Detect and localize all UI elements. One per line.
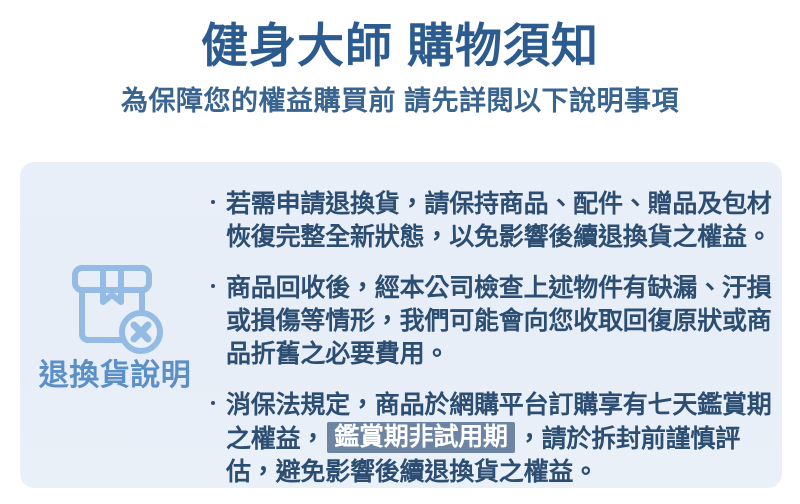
page-subtitle: 為保障您的權益購買前 請先詳閱以下說明事項 bbox=[0, 84, 800, 118]
return-policy-body: 若需申請退換貨，請保持商品、配件、贈品及包材恢復完整全新狀態，以免影響後續退換貨… bbox=[210, 162, 782, 488]
bullet-text: 若需申請退換貨，請保持商品、配件、贈品及包材恢復完整全新狀態，以免影響後續退換貨… bbox=[226, 190, 772, 251]
return-policy-panel: 退換貨說明 若需申請退換貨，請保持商品、配件、贈品及包材恢復完整全新狀態，以免影… bbox=[20, 162, 782, 488]
return-box-icon bbox=[63, 262, 167, 354]
highlighted-note: 鑑賞期非試用期 bbox=[327, 422, 515, 453]
return-policy-aside: 退換貨說明 bbox=[20, 162, 210, 488]
page-header: 健身大師 購物須知 為保障您的權益購買前 請先詳閱以下說明事項 bbox=[0, 0, 800, 118]
bullet-return-condition: 若需申請退換貨，請保持商品、配件、贈品及包材恢復完整全新狀態，以免影響後續退換貨… bbox=[210, 188, 772, 254]
page-title: 健身大師 購物須知 bbox=[0, 18, 800, 74]
bullet-inspection-fee: 商品回收後，經本公司檢查上述物件有缺漏、汙損或損傷等情形，我們可能會向您收取回復… bbox=[210, 272, 772, 371]
bullet-text: 商品回收後，經本公司檢查上述物件有缺漏、汙損或損傷等情形，我們可能會向您收取回復… bbox=[226, 274, 772, 368]
policy-bullet-list: 若需申請退換貨，請保持商品、配件、贈品及包材恢復完整全新狀態，以免影響後續退換貨… bbox=[210, 188, 772, 489]
return-policy-label: 退換貨說明 bbox=[39, 358, 192, 394]
bullet-seven-day-period: 消保法規定，商品於網購平台訂購享有七天鑑賞期之權益，鑑賞期非試用期，請於拆封前謹… bbox=[210, 389, 772, 489]
